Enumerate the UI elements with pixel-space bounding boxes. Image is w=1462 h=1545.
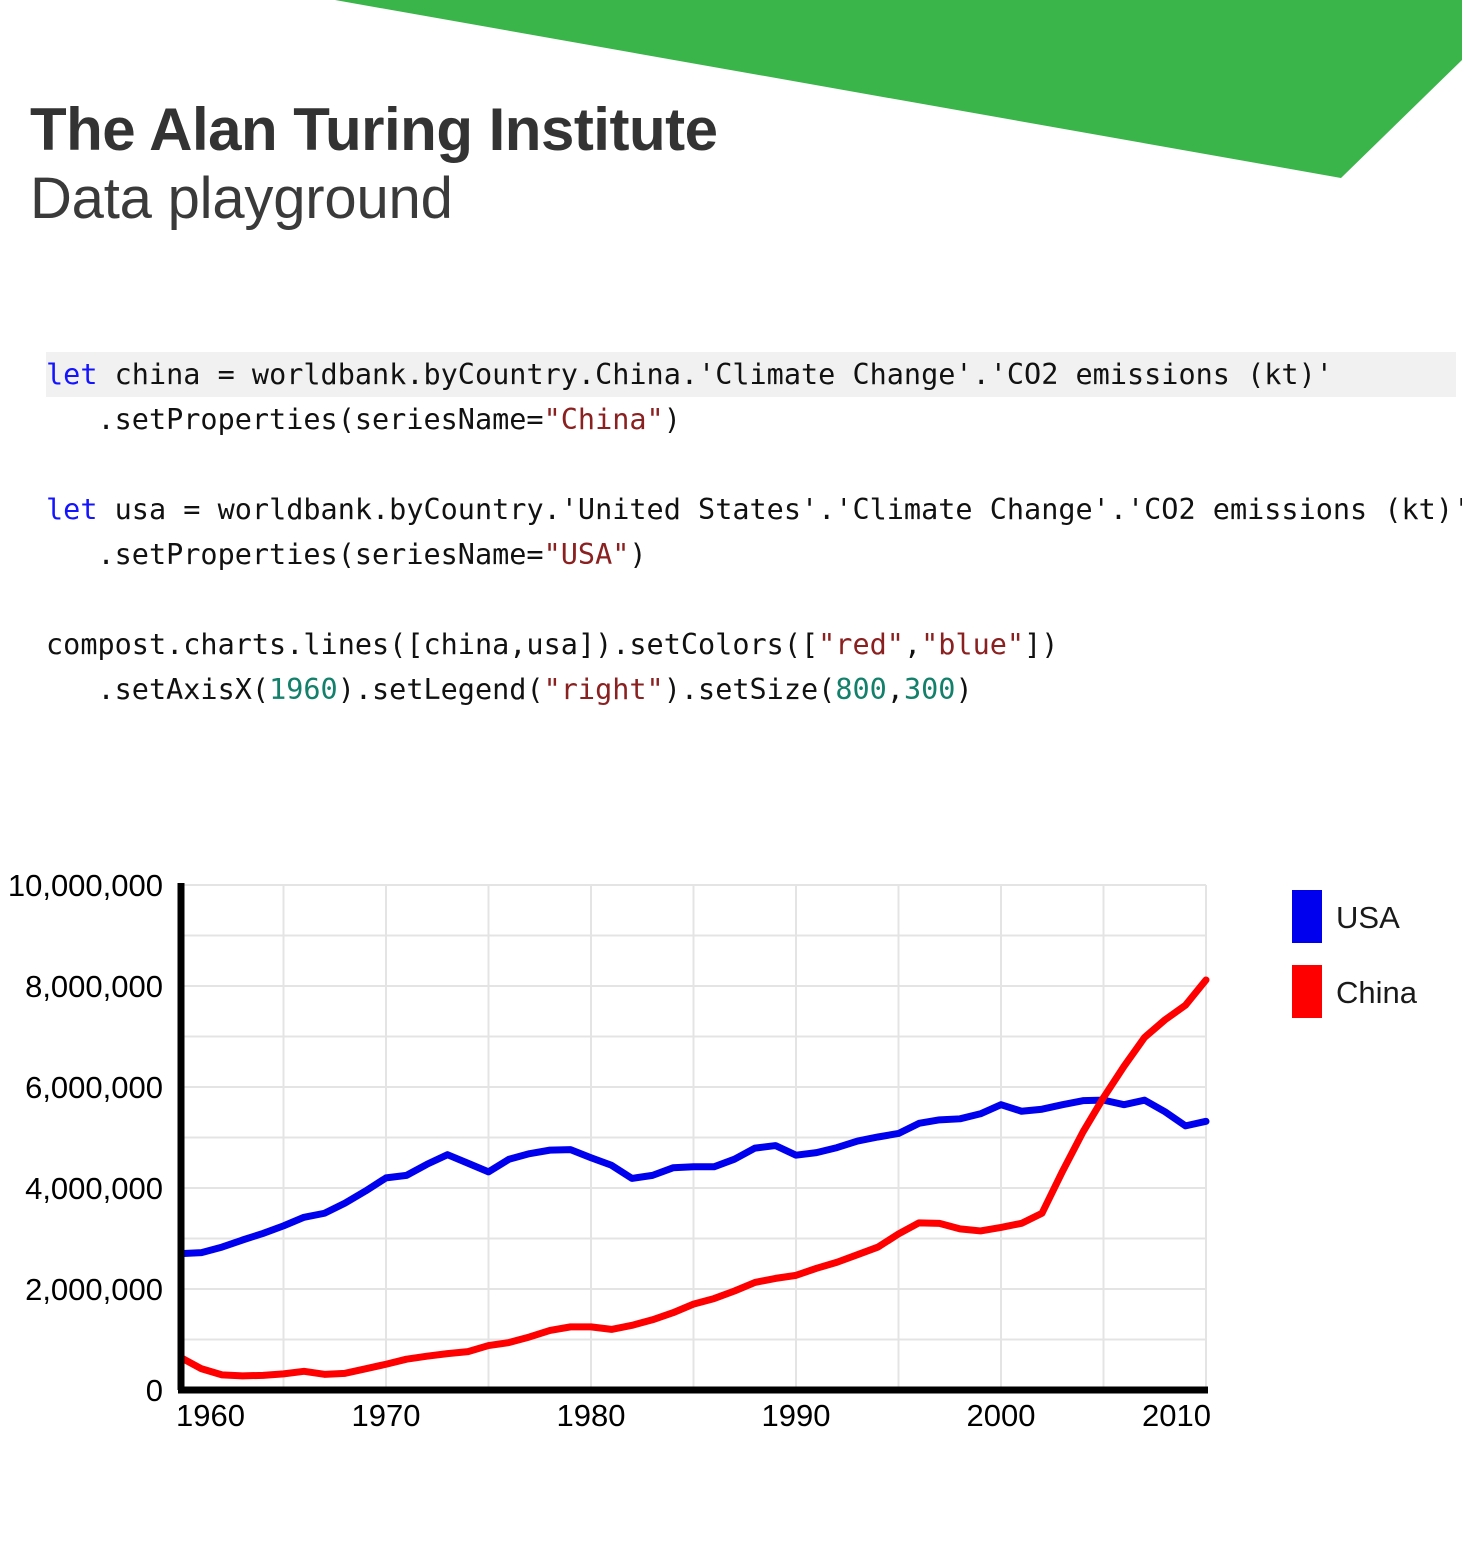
co2-emissions-line-chart: 02,000,0004,000,0006,000,0008,000,00010,… bbox=[0, 855, 1462, 1435]
y-axis-tick-label: 4,000,000 bbox=[25, 1171, 163, 1206]
page-header: The Alan Turing Institute Data playgroun… bbox=[30, 96, 717, 234]
legend-swatch-china bbox=[1292, 965, 1322, 1018]
code-token-str: "right" bbox=[544, 673, 664, 706]
legend-label-usa: USA bbox=[1336, 900, 1400, 935]
x-axis-tick-label: 1980 bbox=[557, 1398, 626, 1433]
y-axis-tick-label: 10,000,000 bbox=[8, 868, 163, 903]
organisation-title: The Alan Turing Institute bbox=[30, 96, 717, 164]
code-line[interactable]: let china = worldbank.byCountry.China.'C… bbox=[46, 352, 1456, 397]
code-token-str: "China" bbox=[544, 403, 664, 436]
code-line[interactable]: .setProperties(seriesName="USA") bbox=[46, 532, 1456, 577]
x-axis-tick-label: 1970 bbox=[352, 1398, 421, 1433]
legend-swatch-usa bbox=[1292, 890, 1322, 943]
code-token: .setProperties(seriesName= bbox=[46, 538, 544, 571]
code-blank-line bbox=[46, 442, 1456, 487]
code-token: ]) bbox=[1024, 628, 1058, 661]
code-token-num: 800 bbox=[835, 673, 886, 706]
code-token: .setAxisX( bbox=[46, 673, 269, 706]
code-block[interactable]: let usa = worldbank.byCountry.'United St… bbox=[46, 487, 1456, 577]
code-token: ) bbox=[629, 538, 646, 571]
chart-legend: USAChina bbox=[1292, 890, 1418, 1018]
code-token-str: "blue" bbox=[921, 628, 1024, 661]
code-token: china = worldbank.byCountry.China.'Clima… bbox=[97, 358, 1332, 391]
x-axis-tick-label: 2000 bbox=[967, 1398, 1036, 1433]
code-block[interactable]: compost.charts.lines([china,usa]).setCol… bbox=[46, 622, 1456, 712]
code-token-num: 300 bbox=[904, 673, 955, 706]
code-token: ).setSize( bbox=[664, 673, 836, 706]
code-token: ) bbox=[664, 403, 681, 436]
chart-svg: 02,000,0004,000,0006,000,0008,000,00010,… bbox=[0, 855, 1462, 1435]
code-token: , bbox=[887, 673, 904, 706]
code-token: usa = worldbank.byCountry.'United States… bbox=[97, 493, 1462, 526]
code-token: ) bbox=[955, 673, 972, 706]
code-line[interactable]: .setAxisX(1960).setLegend("right").setSi… bbox=[46, 667, 1456, 712]
code-token-num: 1960 bbox=[269, 673, 338, 706]
code-token-str: "USA" bbox=[544, 538, 630, 571]
x-axis-tick-label: 1990 bbox=[762, 1398, 831, 1433]
code-block[interactable]: let china = worldbank.byCountry.China.'C… bbox=[46, 352, 1456, 442]
code-token: , bbox=[904, 628, 921, 661]
code-line[interactable]: let usa = worldbank.byCountry.'United St… bbox=[46, 487, 1456, 532]
x-axis-tick-label: 2010 bbox=[1142, 1398, 1211, 1433]
code-editor[interactable]: let china = worldbank.byCountry.China.'C… bbox=[46, 352, 1456, 712]
legend-label-china: China bbox=[1336, 975, 1418, 1010]
x-axis-tick-label: 1960 bbox=[176, 1398, 245, 1433]
y-axis-tick-label: 0 bbox=[146, 1373, 163, 1408]
code-blank-line bbox=[46, 577, 1456, 622]
code-token-kw: let bbox=[46, 358, 97, 391]
code-token-str: "red" bbox=[818, 628, 904, 661]
code-line[interactable]: compost.charts.lines([china,usa]).setCol… bbox=[46, 622, 1456, 667]
code-token-kw: let bbox=[46, 493, 97, 526]
code-line[interactable]: .setProperties(seriesName="China") bbox=[46, 397, 1456, 442]
code-token: .setProperties(seriesName= bbox=[46, 403, 544, 436]
code-token: ).setLegend( bbox=[338, 673, 544, 706]
y-axis-tick-label: 2,000,000 bbox=[25, 1272, 163, 1307]
page-title: Data playground bbox=[30, 164, 717, 234]
code-token: compost.charts.lines([china,usa]).setCol… bbox=[46, 628, 818, 661]
y-axis-tick-label: 8,000,000 bbox=[25, 969, 163, 1004]
y-axis-tick-label: 6,000,000 bbox=[25, 1070, 163, 1105]
